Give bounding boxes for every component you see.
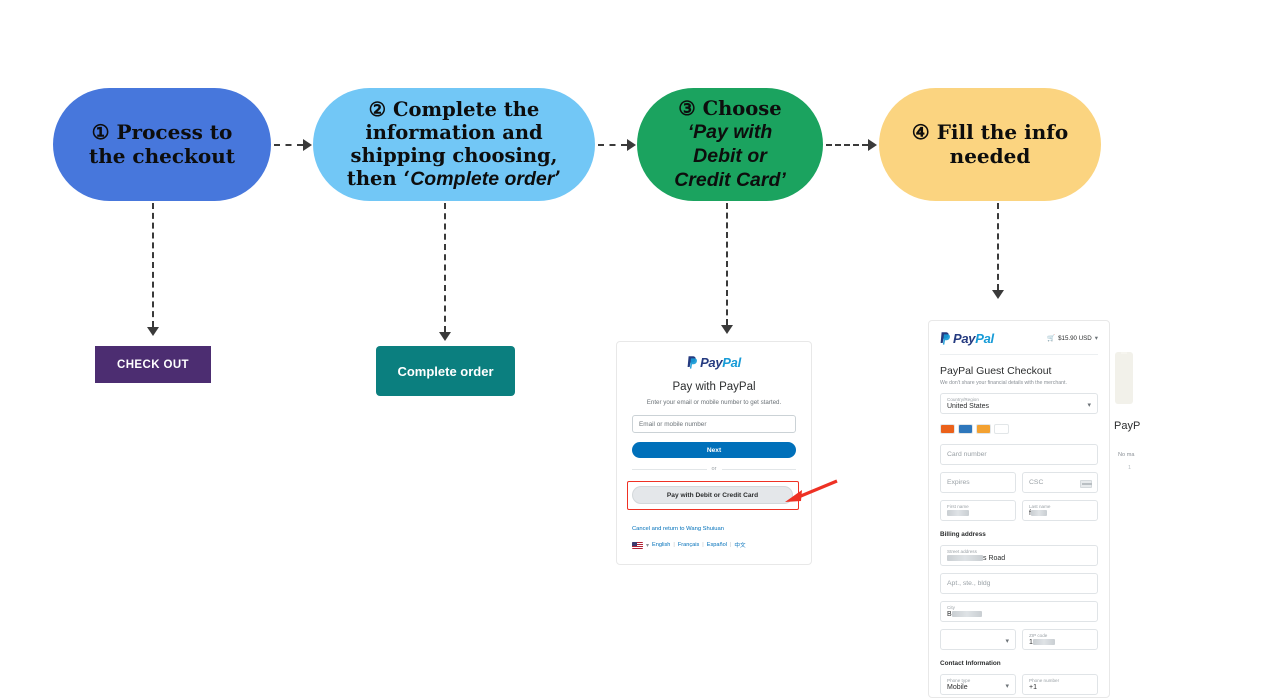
state-zip-row: ▾ ZIP code 1 — [940, 622, 1098, 650]
cancel-and-return-link[interactable]: Cancel and return to Wang Shuiuan — [632, 526, 724, 532]
street-address-input[interactable]: Street address s Road — [940, 545, 1098, 566]
arrowhead-icon — [439, 332, 451, 341]
next-button[interactable]: Next — [632, 442, 796, 458]
callout-arrow-step-3 — [720, 203, 734, 336]
phone-type-value: Mobile — [947, 683, 1009, 693]
visa-icon: VISA — [994, 424, 1009, 434]
flow-step-4-number: ④ — [912, 120, 930, 144]
connector-arrow-3-to-4 — [826, 138, 880, 152]
flow-step-4: ④ Fill the info needed — [879, 88, 1101, 201]
paypal-logo: PayPal — [632, 354, 796, 370]
first-name-input[interactable]: First name — [940, 500, 1016, 521]
callout-arrow-step-4 — [991, 203, 1005, 301]
first-name-value — [947, 509, 1009, 519]
accepted-card-brands: VISA — [940, 421, 1098, 437]
connector-line — [444, 203, 446, 332]
street-address-value: s Road — [947, 554, 1091, 564]
flow-step-2: ② Complete the information and shipping … — [313, 88, 595, 201]
arrowhead-icon — [627, 139, 636, 151]
check-out-button-label: CHECK OUT — [117, 359, 189, 371]
red-annotation-arrow-icon — [783, 479, 838, 505]
phone-number-input[interactable]: Phone number +1 — [1022, 674, 1098, 695]
flow-step-1-line1: Process to — [117, 120, 233, 144]
flow-step-1-number: ① — [92, 120, 110, 144]
flow-step-1-line2: the checkout — [89, 144, 235, 168]
phone-type-select[interactable]: Phone type Mobile ▾ — [940, 674, 1016, 695]
card-number-placeholder: Card number — [947, 448, 1091, 462]
guest-checkout-title: PayPal Guest Checkout — [940, 365, 1098, 377]
callout-arrow-step-2 — [438, 203, 452, 343]
pay-with-debit-or-credit-card-button[interactable]: Pay with Debit or Credit Card — [632, 486, 793, 504]
cart-amount: $15.90 USD — [1058, 335, 1092, 342]
paypal-fragment-text: PayP — [1114, 420, 1140, 432]
state-select[interactable]: ▾ — [940, 629, 1016, 650]
flow-step-3: ③ Choose ‘Pay with Debit or Credit Card’ — [637, 88, 823, 201]
or-label: or — [712, 466, 717, 472]
expiry-csc-row: Expires CSC — [940, 465, 1098, 493]
last-name-value: f — [1029, 509, 1091, 519]
flow-step-2-line3: shipping choosing, — [351, 144, 558, 167]
next-button-label: Next — [707, 447, 721, 454]
flow-step-3-number: ③ — [678, 97, 695, 120]
paypal-p-icon — [940, 332, 951, 345]
name-row: First name Last name f — [940, 493, 1098, 521]
paypal-word-pay: Pay — [953, 331, 975, 346]
arrowhead-icon — [147, 327, 159, 336]
paypal-wordmark: PayPal — [953, 331, 994, 346]
last-name-input[interactable]: Last name f — [1022, 500, 1098, 521]
flow-step-3-emphasis-1: ‘Pay with — [688, 121, 773, 143]
amex-icon — [958, 424, 973, 434]
arrowhead-icon — [721, 325, 733, 334]
cutoff-side-panel: PayP No ma 1 — [1114, 352, 1264, 522]
language-option-english[interactable]: English — [652, 542, 670, 548]
flow-step-2-number: ② — [369, 98, 386, 121]
mastercard-icon — [940, 424, 955, 434]
connector-line — [598, 144, 627, 146]
separator: | — [702, 542, 703, 548]
apt-suite-input[interactable]: Apt., ste., bldg — [940, 573, 1098, 594]
pay-with-card-button-label: Pay with Debit or Credit Card — [667, 492, 758, 499]
email-or-mobile-input[interactable]: Email or mobile number — [632, 415, 796, 433]
flow-step-3-line1: Choose — [703, 97, 782, 120]
or-divider: or — [632, 466, 796, 472]
zip-code-input[interactable]: ZIP code 1 — [1022, 629, 1098, 650]
separator: | — [730, 542, 731, 548]
callout-arrow-step-1 — [146, 203, 160, 338]
arrowhead-icon — [303, 139, 312, 151]
connector-arrow-2-to-3 — [598, 138, 638, 152]
no-match-fragment-text: No ma — [1118, 452, 1134, 458]
connector-line — [826, 144, 868, 146]
phone-number-value: +1 — [1029, 683, 1091, 693]
language-option-espanol[interactable]: Español — [707, 542, 727, 548]
apt-suite-placeholder: Apt., ste., bldg — [947, 577, 1091, 591]
paypal-wordmark: PayPal — [700, 355, 741, 370]
complete-order-button-label: Complete order — [397, 364, 493, 379]
guest-checkout-header: PayPal 🛒 $15.90 USD ▾ — [940, 330, 1098, 355]
csc-input[interactable]: CSC — [1022, 472, 1098, 493]
city-value: B — [947, 610, 1091, 620]
connector-line — [997, 203, 999, 290]
expires-input[interactable]: Expires — [940, 472, 1016, 493]
divider-rule-left — [632, 469, 707, 470]
paypal-p-icon — [687, 356, 698, 369]
chevron-down-icon[interactable]: ▾ — [1005, 637, 1009, 645]
paypal-word-pal: Pal — [722, 355, 741, 370]
city-input[interactable]: City B — [940, 601, 1098, 622]
email-input-placeholder: Email or mobile number — [639, 421, 706, 428]
arrowhead-icon — [992, 290, 1004, 299]
language-option-francais[interactable]: Français — [678, 542, 699, 548]
us-flag-icon — [632, 542, 643, 549]
product-thumbnail — [1115, 352, 1133, 404]
contact-information-heading: Contact Information — [940, 660, 1098, 667]
country-region-value: United States — [947, 402, 1091, 412]
check-out-button[interactable]: CHECK OUT — [95, 346, 211, 383]
discover-icon — [976, 424, 991, 434]
paypal-guest-checkout-card: PayPal 🛒 $15.90 USD ▾ PayPal Guest Check… — [928, 320, 1110, 698]
complete-order-button[interactable]: Complete order — [376, 346, 515, 396]
chevron-down-icon[interactable]: ▾ — [1087, 401, 1091, 409]
zip-code-value: 1 — [1029, 638, 1091, 648]
card-security-code-icon — [1080, 480, 1092, 488]
chevron-down-icon[interactable]: ▾ — [646, 542, 649, 549]
paypal-word-pal: Pal — [975, 331, 994, 346]
chevron-down-icon[interactable]: ▾ — [1095, 334, 1098, 342]
flow-step-1: ① Process to the checkout — [53, 88, 271, 201]
guest-checkout-subtitle: We don't share your financial details wi… — [940, 380, 1098, 386]
cart-summary[interactable]: 🛒 $15.90 USD ▾ — [1047, 334, 1098, 342]
separator: | — [673, 542, 674, 548]
phone-row: Phone type Mobile ▾ Phone number +1 — [940, 667, 1098, 695]
flow-step-2-line2: information and — [365, 121, 542, 144]
connector-line — [726, 203, 728, 325]
login-subtitle: Enter your email or mobile number to get… — [632, 399, 796, 406]
connector-arrow-1-to-2 — [274, 138, 314, 152]
paypal-logo: PayPal — [940, 330, 994, 346]
language-selector[interactable]: ▾ English | Français | Español | 中文 — [632, 541, 746, 549]
divider-rule-right — [722, 469, 797, 470]
connector-line — [274, 144, 303, 146]
flow-step-3-emphasis-2: Debit or — [693, 145, 767, 167]
flow-step-2-line4-prefix: then ‘ — [347, 167, 410, 190]
flow-step-2-line1: Complete the — [393, 98, 539, 121]
arrowhead-icon — [868, 139, 877, 151]
flow-step-2-emphasis: Complete order — [410, 168, 554, 190]
tick-fragment: 1 — [1128, 465, 1131, 471]
country-region-select[interactable]: Country/Region United States ▾ — [940, 393, 1098, 414]
flow-step-3-emphasis-3: Credit Card’ — [674, 169, 786, 191]
connector-line — [152, 203, 154, 327]
language-option-chinese[interactable]: 中文 — [734, 541, 745, 549]
chevron-down-icon[interactable]: ▾ — [1005, 682, 1009, 690]
expires-placeholder: Expires — [947, 476, 1009, 490]
paypal-word-pay: Pay — [700, 355, 722, 370]
login-title: Pay with PayPal — [632, 381, 796, 393]
billing-address-heading: Billing address — [940, 531, 1098, 538]
flow-step-4-line1: Fill the info — [937, 120, 1069, 144]
flow-step-2-line4-suffix: ’ — [554, 167, 561, 190]
flow-step-4-line2: needed — [950, 144, 1031, 168]
cart-icon: 🛒 — [1047, 334, 1055, 342]
card-number-input[interactable]: Card number — [940, 444, 1098, 465]
